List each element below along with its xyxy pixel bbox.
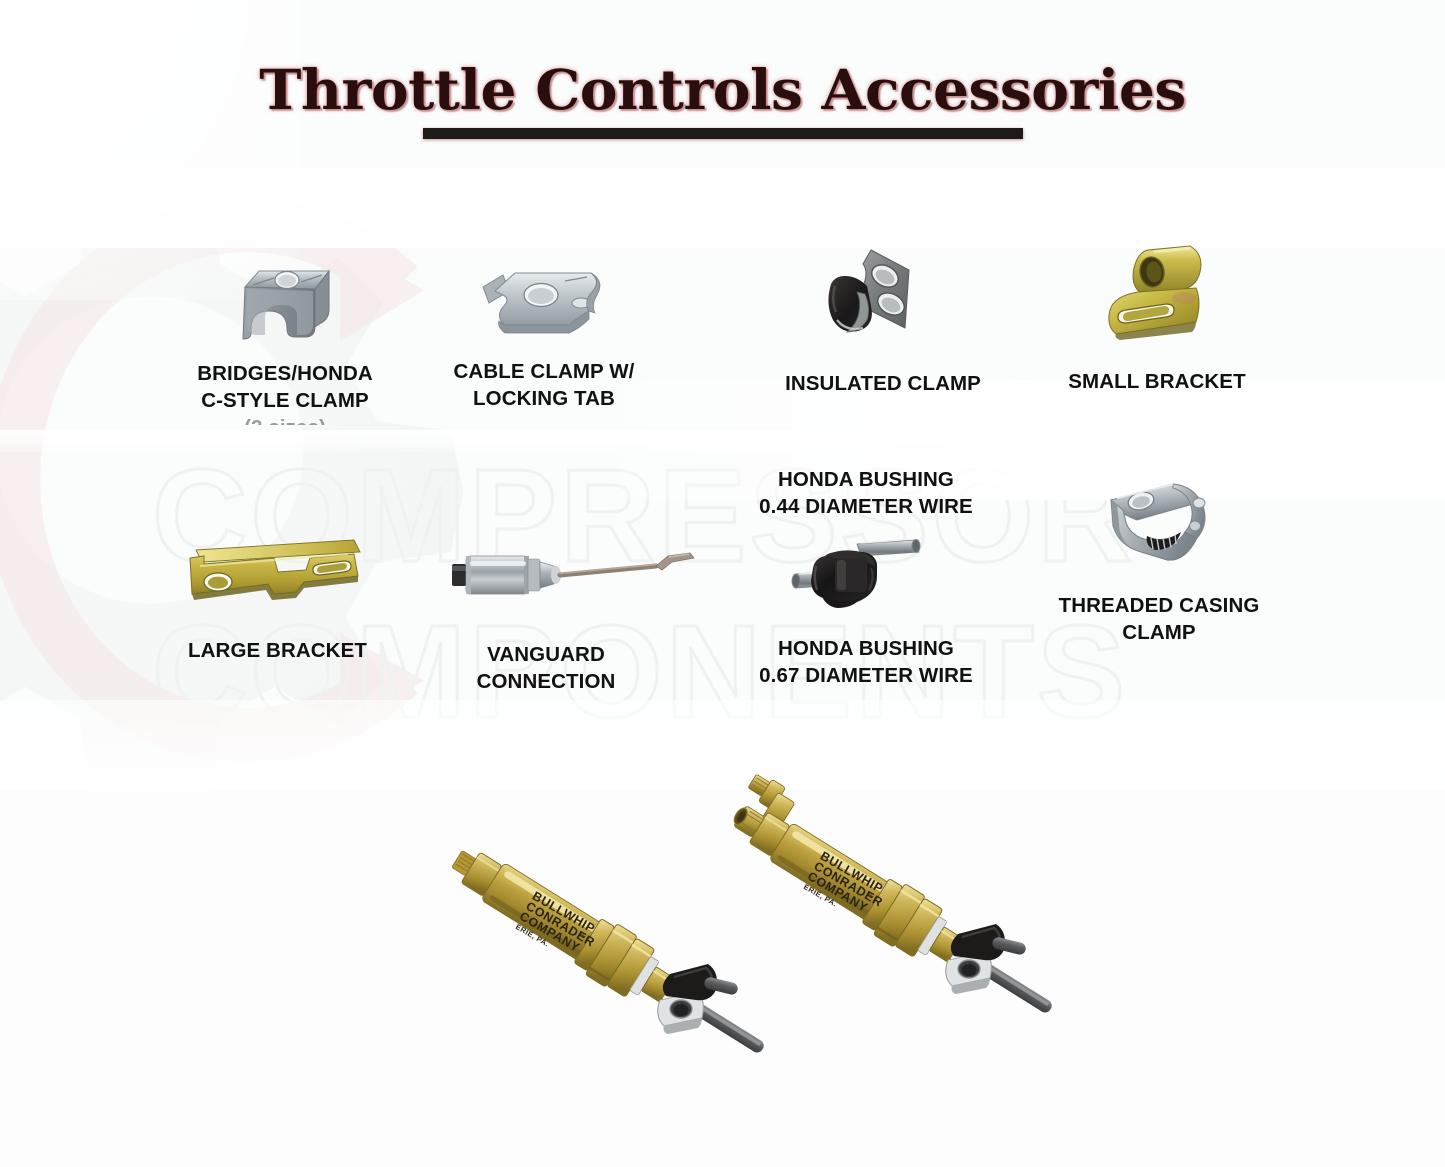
product-bridges-honda-c-style-clamp[interactable]: BRIDGES/HONDA C-STYLE CLAMP (2 sizes) bbox=[180, 250, 390, 425]
product-image bbox=[742, 528, 990, 623]
wavy-clamp-locking-tab-icon bbox=[469, 251, 619, 351]
insulated-double-tab-clamp-icon bbox=[813, 242, 953, 362]
product-caption: INSULATED CLAMP bbox=[775, 370, 991, 397]
bullwhip-cable-assembly-icon: BULLWHIP CONRADER ™ COMPANY ERIE, PA. bbox=[440, 818, 770, 1118]
product-caption-below: HONDA BUSHING 0.67 DIAMETER WIRE bbox=[742, 635, 990, 689]
product-caption: LARGE BRACKET bbox=[165, 637, 390, 664]
product-insulated-clamp[interactable]: INSULATED CLAMP bbox=[775, 240, 991, 397]
product-image bbox=[1058, 240, 1256, 368]
title-underline-rule bbox=[423, 128, 1023, 139]
product-large-bracket[interactable]: LARGE BRACKET bbox=[165, 522, 390, 664]
product-caption-clipped: (2 sizes) bbox=[180, 414, 390, 425]
product-caption: SMALL BRACKET bbox=[1058, 368, 1256, 395]
product-vanguard-connection[interactable]: VANGUARD CONNECTION bbox=[438, 522, 654, 695]
stepped-bracket-hole-slot-icon bbox=[178, 532, 378, 627]
product-image bbox=[775, 242, 991, 370]
product-image bbox=[438, 536, 654, 641]
product-image bbox=[180, 255, 390, 360]
assembly-bullwhip-throttle-control-left[interactable]: BULLWHIP CONRADER ™ COMPANY ERIE, PA. bbox=[440, 818, 770, 1118]
bullwhip-cable-assembly-icon: BULLWHIP CONRADER ™ COMPANY ERIE, PA. bbox=[728, 778, 1058, 1078]
product-cable-clamp-with-locking-tab[interactable]: CABLE CLAMP W/ LOCKING TAB bbox=[438, 248, 650, 412]
page-title: Throttle Controls Accessories bbox=[0, 62, 1445, 117]
product-honda-bushing[interactable]: HONDA BUSHING 0.44 DIAMETER WIRE bbox=[742, 466, 990, 689]
chrome-barrel-bent-wire-icon bbox=[450, 536, 720, 616]
c-style-saddle-clamp-icon bbox=[225, 255, 345, 355]
assembly-bullwhip-throttle-control-right[interactable]: BULLWHIP CONRADER ™ COMPANY ERIE, PA. bbox=[728, 778, 1058, 1078]
product-caption: CABLE CLAMP W/ LOCKING TAB bbox=[438, 358, 650, 412]
product-image bbox=[165, 532, 390, 637]
product-threaded-casing-clamp[interactable]: THREADED CASING CLAMP bbox=[1050, 470, 1268, 646]
product-caption: BRIDGES/HONDA C-STYLE CLAMP bbox=[180, 360, 390, 414]
product-caption: THREADED CASING CLAMP bbox=[1050, 592, 1268, 646]
slotted-bracket-rolled-tube-icon bbox=[1092, 240, 1222, 362]
product-caption: VANGUARD CONNECTION bbox=[438, 641, 654, 695]
black-bushing-two-tubes-icon bbox=[791, 528, 941, 620]
threaded-bore-clamp-icon bbox=[1089, 470, 1229, 580]
product-image bbox=[438, 251, 650, 358]
product-image bbox=[1050, 470, 1268, 592]
product-caption-above: HONDA BUSHING 0.44 DIAMETER WIRE bbox=[742, 466, 990, 520]
product-small-bracket[interactable]: SMALL BRACKET bbox=[1058, 240, 1256, 395]
header: Throttle Controls Accessories bbox=[0, 62, 1445, 139]
